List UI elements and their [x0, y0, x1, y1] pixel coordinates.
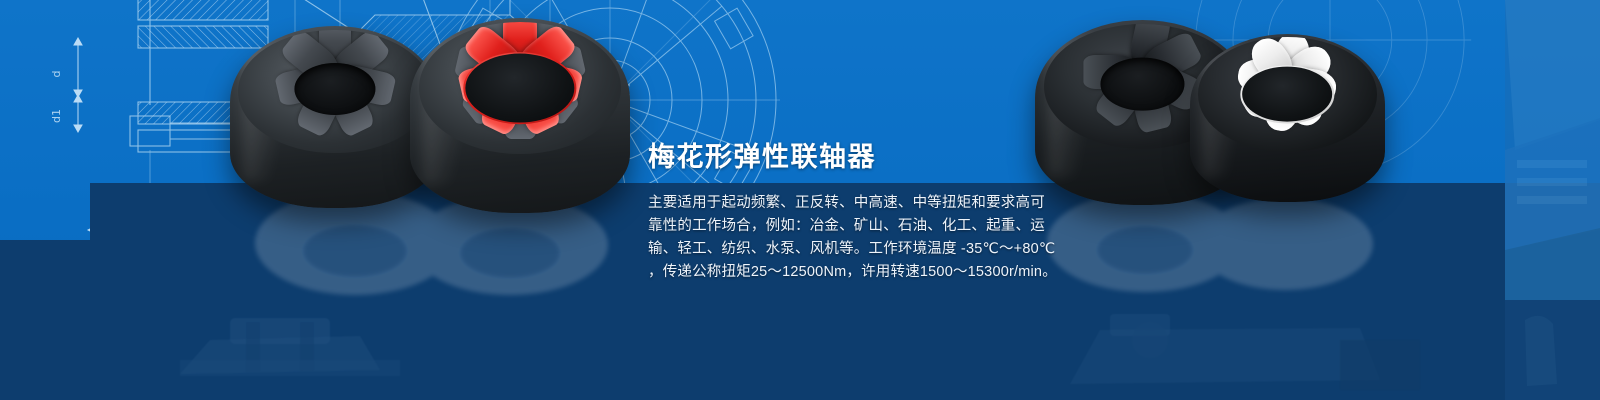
product-group-left — [230, 18, 630, 208]
band-dark-left — [0, 240, 92, 400]
description-line-4: ，传递公称扭矩25～12500Nm，许用转速1500～15300r/min。 — [648, 261, 1068, 284]
machinery-photo-right-edge — [1505, 0, 1600, 400]
jaw-coupling-hub-black — [230, 26, 440, 208]
product-group-right — [1035, 8, 1385, 203]
svg-text:d1: d1 — [50, 109, 63, 123]
coupling-face — [1198, 37, 1377, 151]
jaw-coupling-with-red-spider — [410, 18, 630, 213]
coupling-face — [238, 30, 431, 154]
product-description: 主要适用于起动频繁、正反转、中高速、中等扭矩和要求高可 靠性的工作场合，例如：冶… — [648, 192, 1068, 284]
description-line-2: 靠性的工作场合，例如：冶金、矿山、石油、化工、起重、运 — [648, 215, 1068, 238]
page-title: 梅花形弹性联轴器 — [648, 140, 1068, 174]
product-banner: d d1 L1 L L0 L D — [0, 0, 1600, 400]
elastomer-spider-red — [419, 22, 621, 155]
coupling-bore — [294, 63, 375, 115]
jaw-coupling-with-white-spider — [1190, 34, 1385, 202]
coupling-bore — [1101, 58, 1184, 111]
description-line-1: 主要适用于起动频繁、正反转、中高速、中等扭矩和要求高可 — [648, 192, 1068, 215]
description-line-3: 输、轻工、纺织、水泵、风机等。工作环境温度 -35℃～+80℃ — [648, 238, 1068, 261]
elastomer-spider-white — [1198, 37, 1377, 151]
coupling-face — [419, 22, 621, 155]
svg-text:d: d — [50, 71, 63, 78]
text-block: 梅花形弹性联轴器 主要适用于起动频繁、正反转、中高速、中等扭矩和要求高可 靠性的… — [648, 140, 1068, 284]
